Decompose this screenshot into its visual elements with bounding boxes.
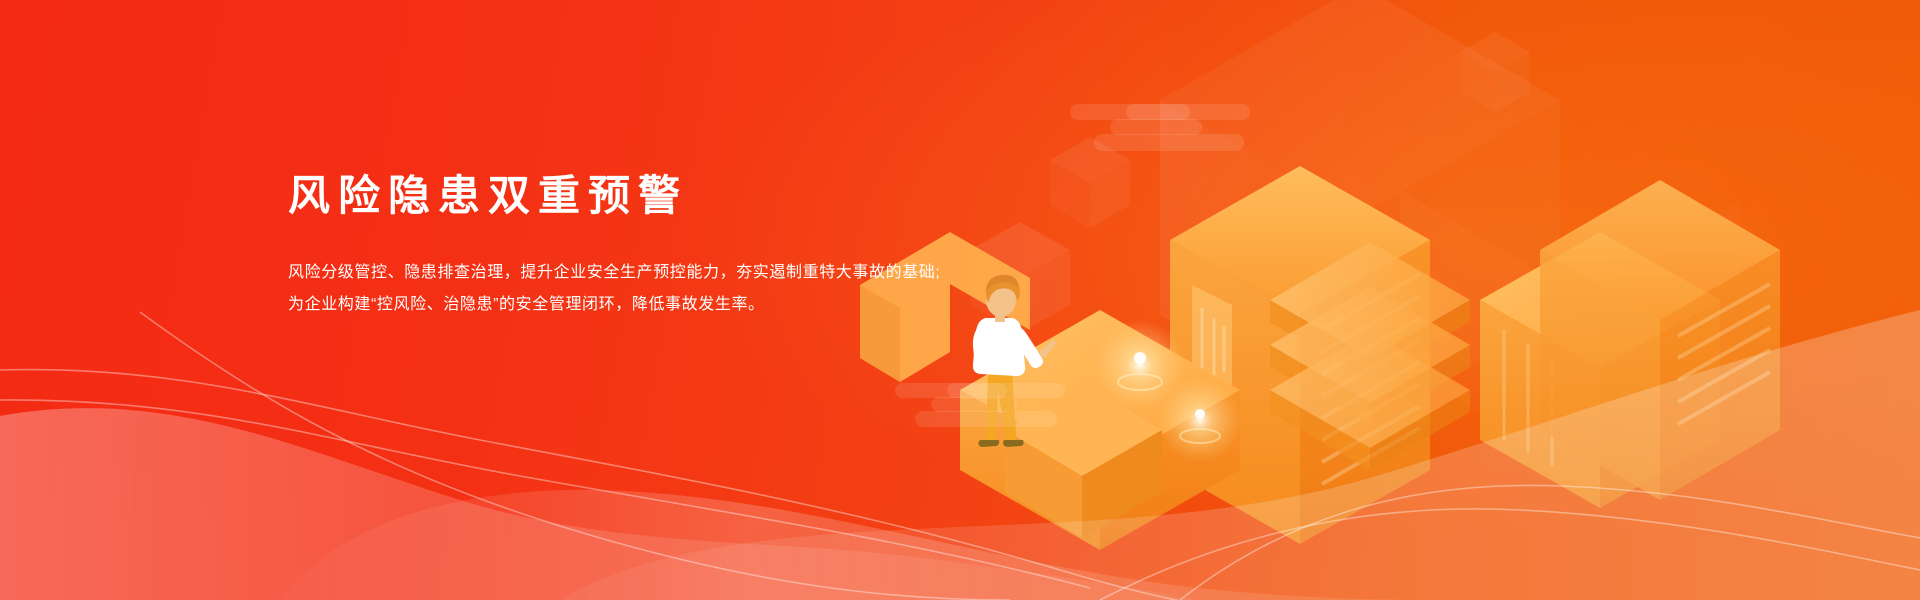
banner-copy: 风险隐患双重预警 风险分级管控、隐患排查治理，提升企业安全生产预控能力，夯实遏制… <box>288 170 988 321</box>
cloud-shape <box>1070 104 1250 152</box>
hero-banner: 风险隐患双重预警 风险分级管控、隐患排查治理，提升企业安全生产预控能力，夯实遏制… <box>0 0 1920 600</box>
subtitle-line-2: 为企业构建“控风险、治隐患”的安全管理闭环，降低事故发生率。 <box>288 289 988 321</box>
banner-subtitle: 风险分级管控、隐患排查治理，提升企业安全生产预控能力，夯实遏制重特大事故的基础;… <box>288 257 988 321</box>
subtitle-line-1: 风险分级管控、隐患排查治理，提升企业安全生产预控能力，夯实遏制重特大事故的基础; <box>288 257 988 289</box>
page-title: 风险隐患双重预警 <box>288 170 988 223</box>
